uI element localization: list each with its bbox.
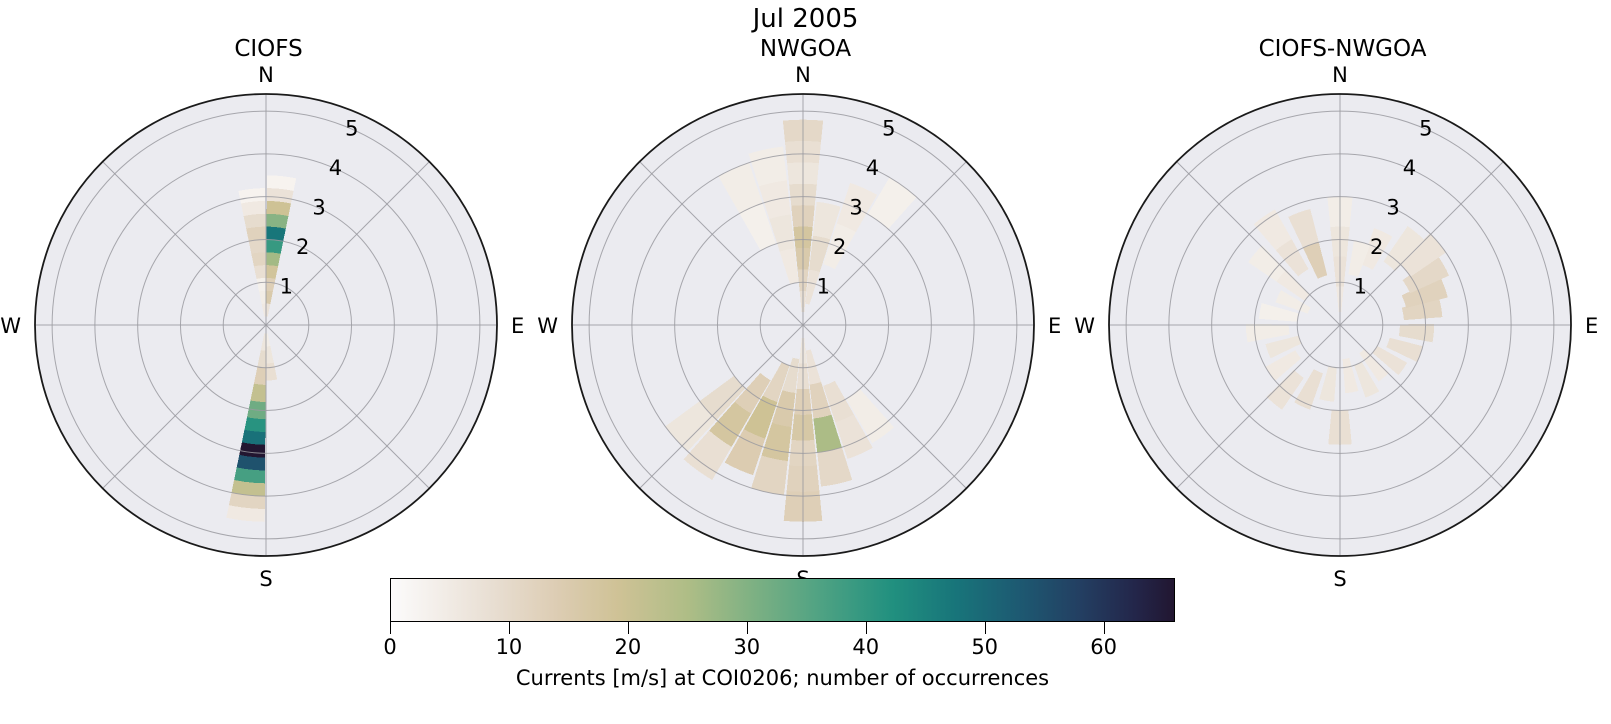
compass-label-e: E	[1048, 314, 1061, 338]
compass-label-s: S	[1333, 567, 1346, 591]
compass-label-w: W	[1074, 314, 1095, 338]
radial-tick-label: 5	[345, 116, 358, 140]
polar-bin	[266, 239, 283, 253]
polar-gridlines	[35, 94, 497, 556]
radial-tick-label: 1	[280, 274, 293, 298]
colorbar-tick-label: 0	[383, 635, 396, 659]
compass-label-n: N	[795, 63, 811, 87]
polar-panel-nwgoa: NWGOA 12345NSEW	[537, 0, 1074, 600]
radial-tick-label: 4	[329, 156, 342, 180]
colorbar-tick-mark	[509, 622, 510, 634]
colorbar-tick-label: 60	[1090, 635, 1117, 659]
radial-tick-label: 2	[1370, 235, 1383, 259]
colorbar-tick-mark	[390, 622, 391, 634]
colorbar-tick-mark	[985, 622, 986, 634]
colorbar-tick-mark	[628, 622, 629, 634]
colorbar-tick-label: 50	[971, 635, 998, 659]
colorbar: 0102030405060	[390, 578, 1175, 622]
polar-axes-ciofs: 12345NSEW	[0, 0, 537, 600]
radial-tick-label: 2	[296, 235, 309, 259]
colorbar-label: Currents [m/s] at COI0206; number of occ…	[390, 666, 1175, 690]
polar-panel-ciofs: CIOFS 12345NSEW	[0, 0, 537, 600]
polar-bin	[249, 239, 266, 253]
colorbar-ticks: 0102030405060	[390, 622, 1175, 662]
polar-bin	[244, 214, 266, 229]
radial-tick-label: 4	[866, 156, 879, 180]
radial-tick-label: 3	[849, 195, 862, 219]
radial-tick-label: 5	[1419, 116, 1432, 140]
compass-label-w: W	[0, 314, 21, 338]
panel-title-ciofs: CIOFS	[0, 36, 537, 62]
polar-bin	[244, 417, 265, 432]
radial-tick-label: 5	[882, 116, 895, 140]
radial-tick-label: 1	[817, 274, 830, 298]
colorbar-tick-mark	[866, 622, 867, 634]
polar-bin	[242, 430, 265, 445]
compass-label-n: N	[1332, 63, 1348, 87]
radial-tick-label: 3	[312, 195, 325, 219]
colorbar-tick-label: 40	[852, 635, 879, 659]
panel-title-ciofs-nwgoa: CIOFS-NWGOA	[1074, 36, 1611, 62]
polar-axes-ciofs-nwgoa: 12345NSEW	[1074, 0, 1611, 600]
polar-gridlines	[572, 94, 1034, 556]
panel-title-nwgoa: NWGOA	[537, 36, 1074, 62]
compass-label-e: E	[511, 314, 524, 338]
colorbar-gradient	[390, 578, 1175, 622]
compass-label-w: W	[537, 314, 558, 338]
compass-label-s: S	[259, 567, 272, 591]
polar-bin	[267, 214, 289, 229]
polar-gridlines	[1109, 94, 1571, 556]
figure-canvas: Jul 2005 CIOFS 12345NSEW NWGOA 12345NSEW…	[0, 0, 1611, 724]
compass-label-n: N	[258, 63, 274, 87]
polar-bin	[267, 227, 286, 242]
radial-tick-label: 1	[1354, 274, 1367, 298]
polar-bin	[241, 201, 265, 216]
colorbar-tick-mark	[1104, 622, 1105, 634]
radial-tick-label: 3	[1386, 195, 1399, 219]
colorbar-tick-label: 30	[733, 635, 760, 659]
radial-tick-label: 4	[1403, 156, 1416, 180]
colorbar-tick-label: 20	[615, 635, 642, 659]
polar-bin	[267, 201, 291, 216]
compass-label-e: E	[1585, 314, 1598, 338]
colorbar-tick-label: 10	[496, 635, 523, 659]
polar-bin	[246, 227, 265, 242]
polar-axes-nwgoa: 12345NSEW	[537, 0, 1074, 600]
radial-tick-label: 2	[833, 235, 846, 259]
polar-panel-ciofs-nwgoa: CIOFS-NWGOA 12345NSEW	[1074, 0, 1611, 600]
colorbar-tick-mark	[747, 622, 748, 634]
